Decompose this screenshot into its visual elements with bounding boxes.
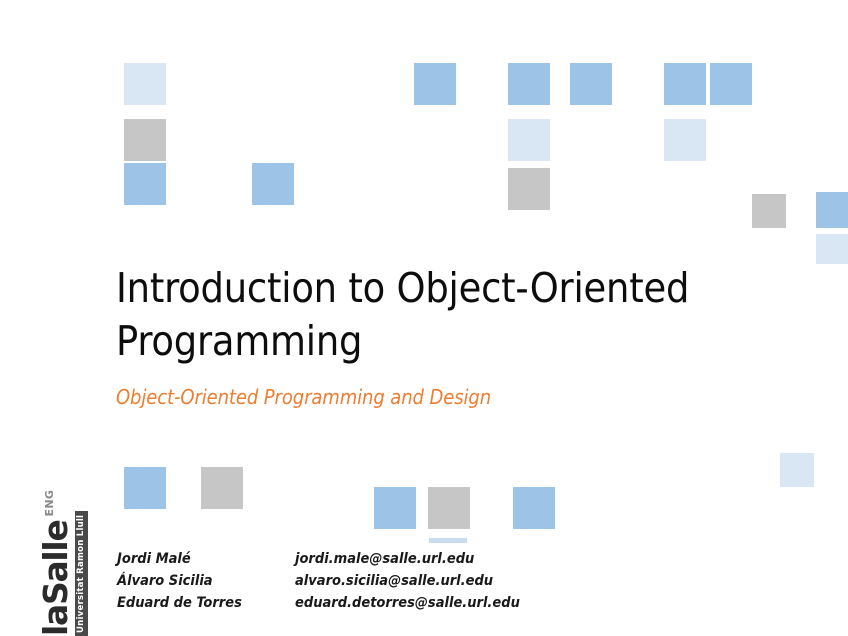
decorative-square [508, 119, 550, 161]
author-name: Álvaro Sicilia [117, 570, 295, 592]
decorative-square [124, 163, 166, 205]
decorative-square [428, 487, 470, 529]
decorative-square [570, 63, 612, 105]
decorative-square [414, 63, 456, 105]
decorative-square [429, 538, 467, 543]
decorative-square [124, 63, 166, 105]
author-row: Eduard de Torreseduard.detorres@salle.ur… [117, 592, 520, 614]
logo-wordmark: laSalle [39, 520, 72, 636]
author-name: Jordi Malé [117, 548, 295, 570]
authors-block: Jordi Maléjordi.male@salle.url.eduÁlvaro… [117, 548, 520, 614]
decorative-square [508, 63, 550, 105]
slide-canvas: Introduction to Object-Oriented Programm… [0, 0, 848, 636]
title-block: Introduction to Object-Oriented Programm… [116, 262, 776, 409]
decorative-square [374, 487, 416, 529]
author-row: Álvaro Siciliaalvaro.sicilia@salle.url.e… [117, 570, 520, 592]
decorative-square [201, 467, 243, 509]
decorative-square [664, 119, 706, 161]
page-title: Introduction to Object-Oriented Programm… [116, 262, 776, 369]
author-email: alvaro.sicilia@salle.url.edu [295, 570, 520, 592]
logo-eng-label: ENG [44, 490, 55, 517]
decorative-square [124, 467, 166, 509]
author-row: Jordi Maléjordi.male@salle.url.edu [117, 548, 520, 570]
page-subtitle: Object-Oriented Programming and Design [116, 385, 776, 409]
author-name: Eduard de Torres [117, 592, 295, 614]
logo-wordmark-row: laSalle ENG [39, 490, 72, 636]
decorative-square [710, 63, 752, 105]
decorative-square [816, 234, 848, 264]
decorative-square [780, 453, 814, 487]
logo-university-band: Universitat Ramon Llull [75, 511, 88, 636]
lasalle-logo-inner: laSalle ENG Universitat Ramon Llull [22, 446, 88, 636]
decorative-square [816, 192, 848, 228]
authors-table: Jordi Maléjordi.male@salle.url.eduÁlvaro… [117, 548, 520, 614]
decorative-square [513, 487, 555, 529]
lasalle-logo: laSalle ENG Universitat Ramon Llull [22, 446, 88, 636]
author-email: eduard.detorres@salle.url.edu [295, 592, 520, 614]
author-email: jordi.male@salle.url.edu [295, 548, 520, 570]
decorative-square [124, 119, 166, 161]
decorative-square [752, 194, 786, 228]
decorative-square [508, 168, 550, 210]
decorative-square [664, 63, 706, 105]
decorative-square [252, 163, 294, 205]
